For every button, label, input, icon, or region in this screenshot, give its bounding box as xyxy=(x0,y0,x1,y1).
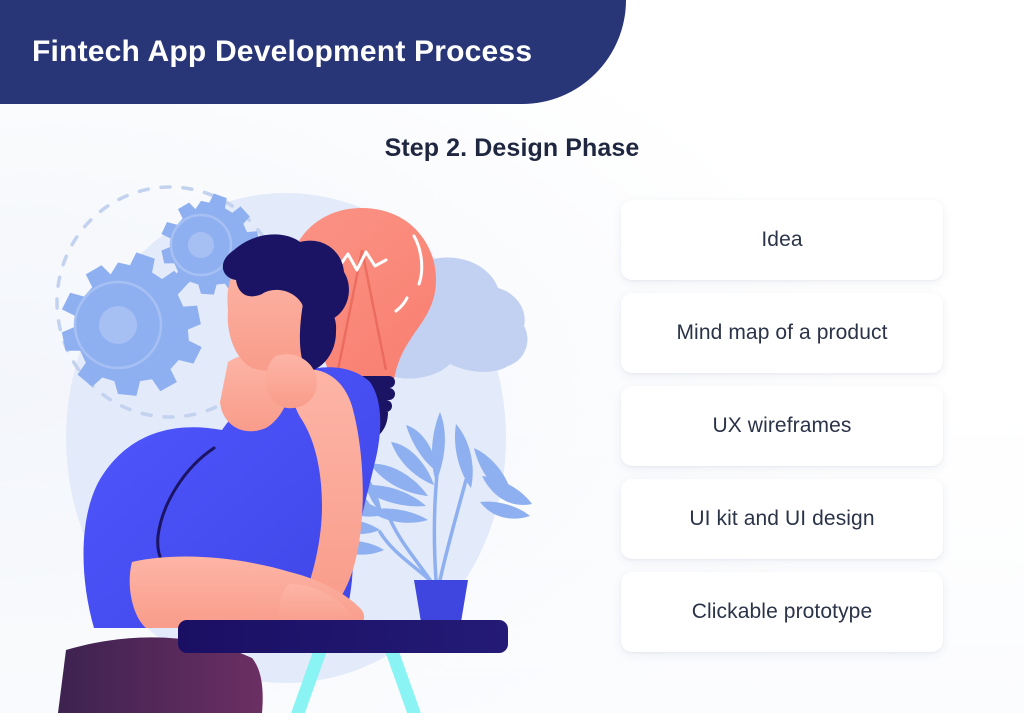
header-banner: Fintech App Development Process xyxy=(0,0,626,104)
card-label: Idea xyxy=(761,228,802,252)
card-ux-wireframes[interactable]: UX wireframes xyxy=(621,386,943,466)
card-label: UI kit and UI design xyxy=(689,507,874,531)
card-mind-map[interactable]: Mind map of a product xyxy=(621,293,943,373)
design-phase-illustration xyxy=(36,180,556,713)
card-ui-kit[interactable]: UI kit and UI design xyxy=(621,479,943,559)
page-title: Fintech App Development Process xyxy=(0,35,532,69)
card-label: UX wireframes xyxy=(713,414,852,438)
card-clickable-prototype[interactable]: Clickable prototype xyxy=(621,572,943,652)
step-heading: Step 2. Design Phase xyxy=(0,134,1024,163)
card-label: Clickable prototype xyxy=(692,600,873,624)
card-idea[interactable]: Idea xyxy=(621,200,943,280)
card-label: Mind map of a product xyxy=(676,321,887,345)
desk xyxy=(178,620,508,653)
design-phase-card-list: Idea Mind map of a product UX wireframes… xyxy=(621,200,943,652)
